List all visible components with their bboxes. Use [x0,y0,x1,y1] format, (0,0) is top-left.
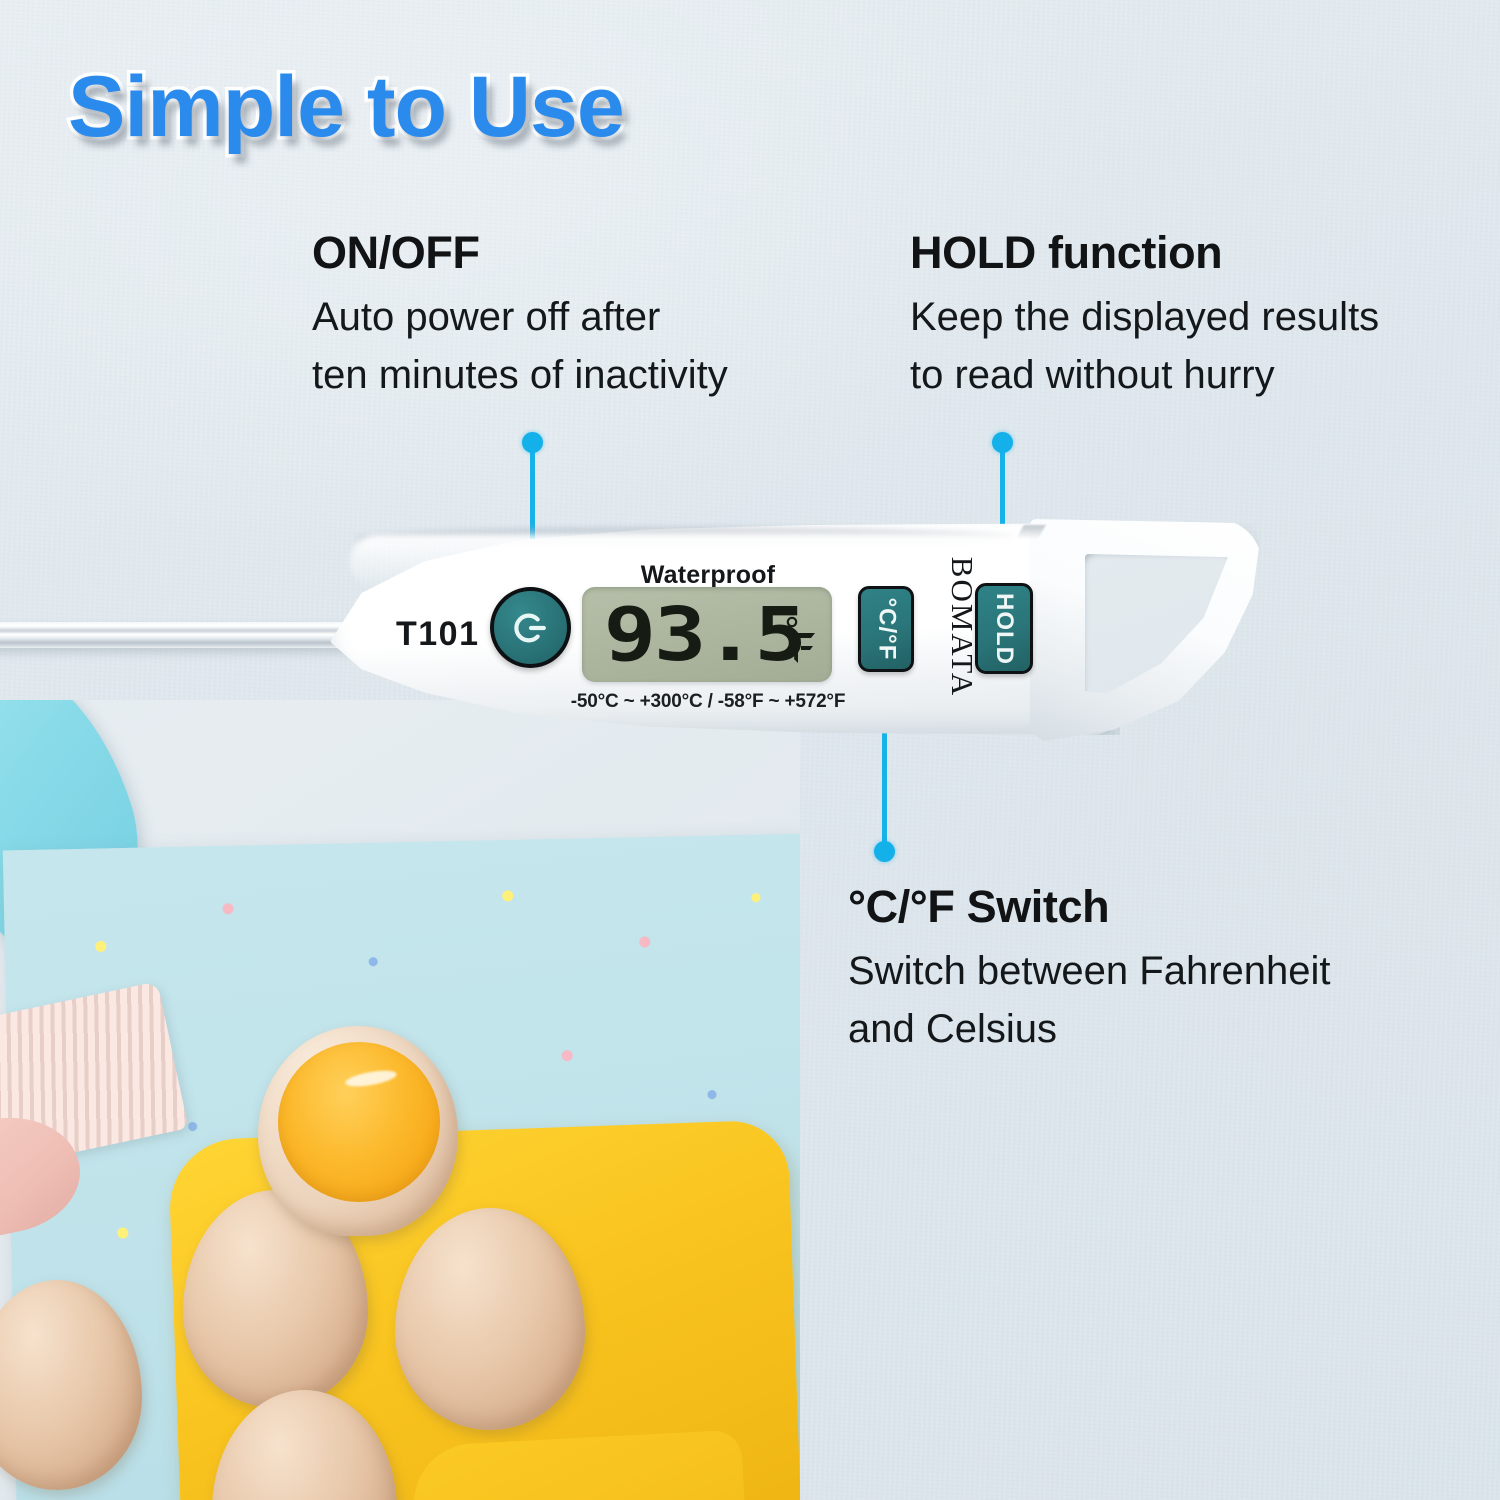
callout-onoff-heading: ON/OFF [312,228,728,278]
hold-button[interactable]: HOLD [975,583,1033,674]
callout-cf-line2: and Celsius [848,1001,1331,1058]
model-label: T101 [396,615,480,654]
infographic-canvas: Simple to Use ON/OFF Auto power off afte… [0,0,1500,1500]
thermometer-device: T101 Waterproof 93.5 -50°C ~ +300°C / -5… [330,505,1240,750]
callout-onoff-line2: ten minutes of inactivity [312,347,728,404]
product-lifestyle-photo [0,700,800,1500]
hold-button-label: HOLD [990,593,1018,665]
callout-cf-heading: °C/°F Switch [848,882,1331,932]
leader-dot-hold [992,432,1013,453]
egg-yolk [278,1042,440,1202]
callout-cf-switch: °C/°F Switch Switch between Fahrenheit a… [848,882,1331,1058]
leader-dot-onoff [522,432,543,453]
leader-dot-cf [874,841,895,862]
power-icon [512,609,550,647]
temperature-range-label: -50°C ~ +300°C / -58°F ~ +572°F [568,691,848,713]
callout-onoff: ON/OFF Auto power off after ten minutes … [312,228,728,404]
callout-cf-line1: Switch between Fahrenheit [848,943,1331,1000]
callout-hold: HOLD function Keep the displayed results… [910,228,1379,404]
waterproof-label: Waterproof [588,561,828,590]
lcd-temperature-value: 93.5 [604,598,805,672]
callout-hold-line1: Keep the displayed results [910,289,1379,346]
stainless-steel-probe [0,622,360,648]
lcd-display: 93.5 [582,587,832,682]
lcd-fahrenheit-icon [785,613,819,665]
cf-button-label: °C/°F [872,598,900,661]
callout-onoff-line1: Auto power off after [312,289,728,346]
photo-edge-fade [670,700,800,1500]
power-button[interactable] [490,587,571,668]
callout-hold-line2: to read without hurry [910,347,1379,404]
callout-hold-heading: HOLD function [910,228,1379,278]
page-title: Simple to Use [68,58,624,157]
